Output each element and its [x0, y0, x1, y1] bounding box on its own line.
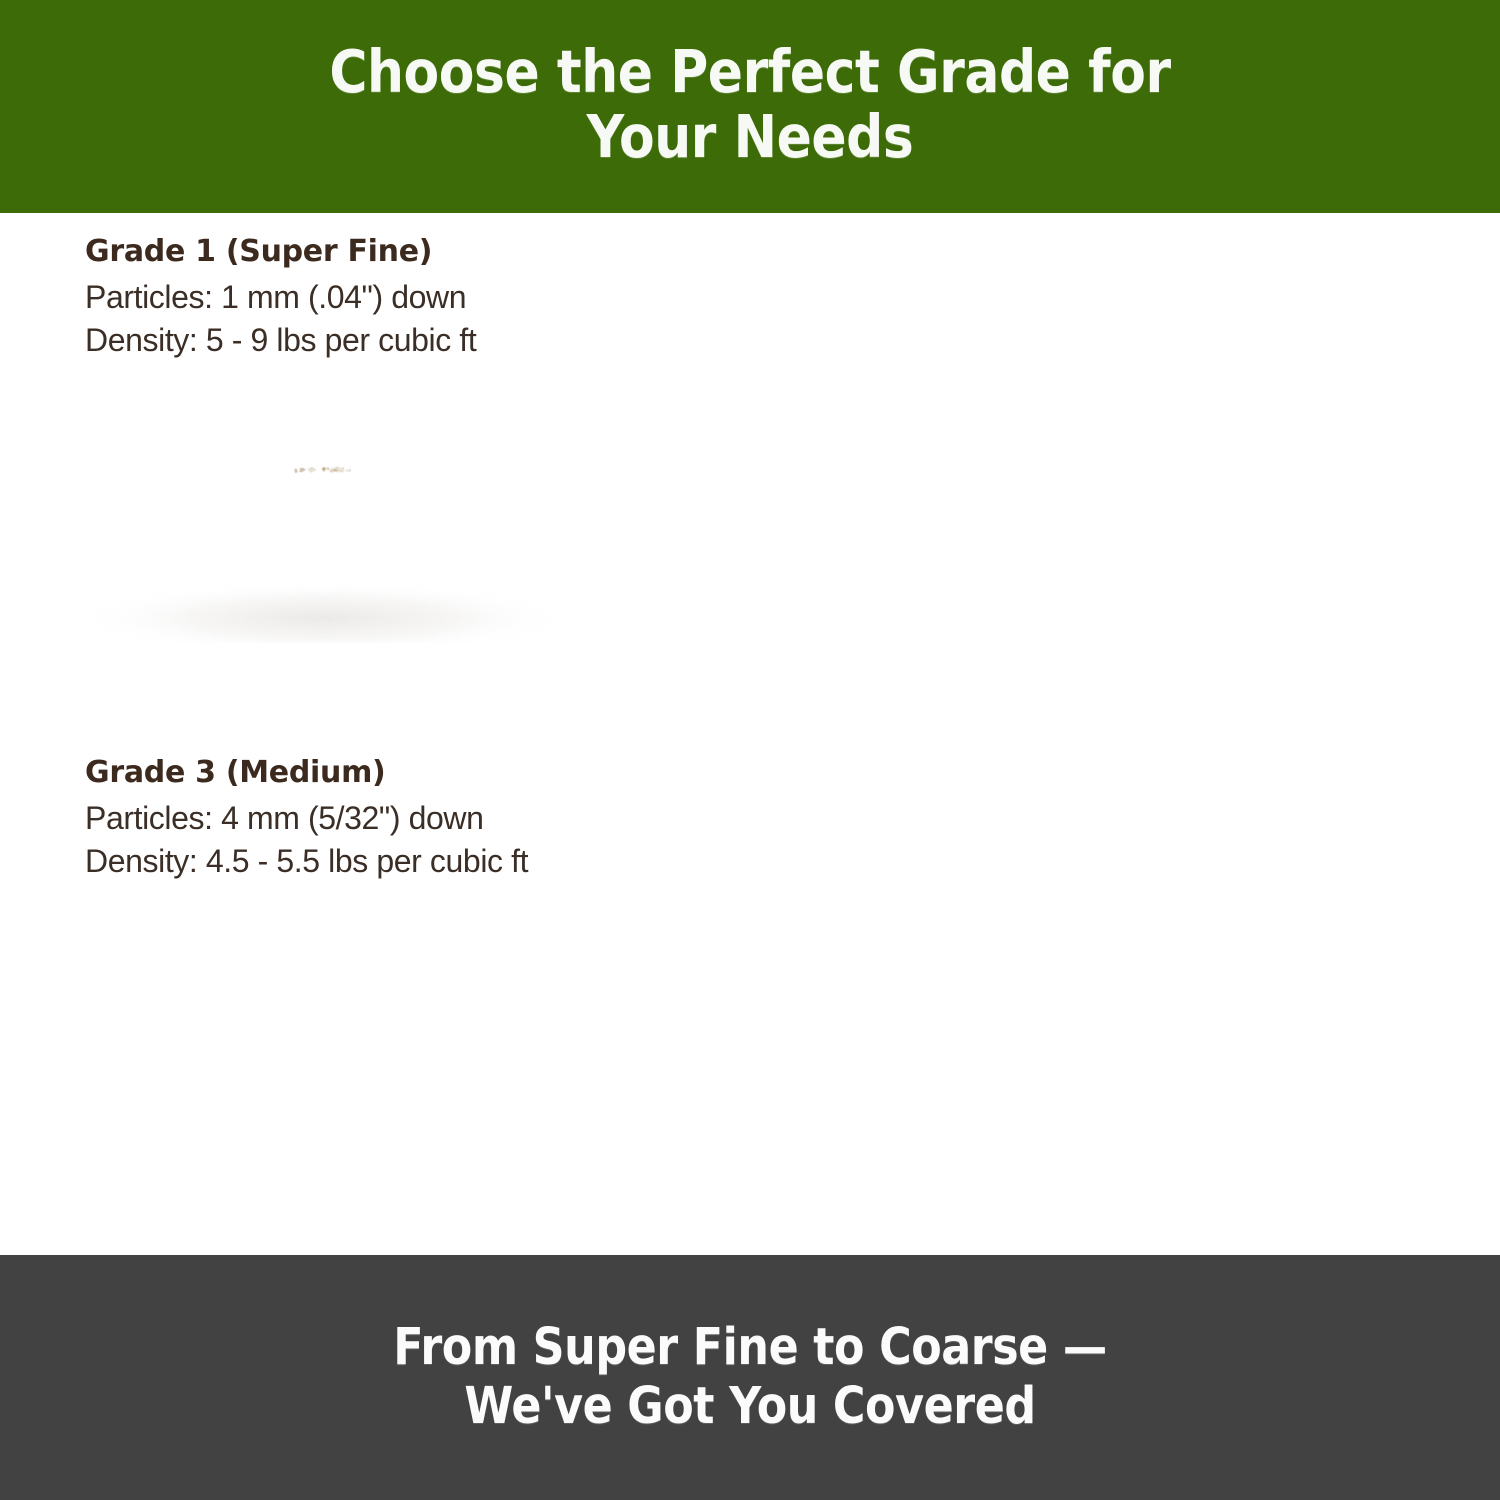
grade-3-pile-image	[58, 934, 583, 1234]
footer-banner: From Super Fine to Coarse — We've Got Yo…	[0, 1255, 1500, 1500]
infographic-page: Choose the Perfect Grade for Your Needs …	[0, 0, 1500, 1500]
page-title-line-1: Choose the Perfect Grade for	[329, 40, 1170, 105]
page-title-line-2: Your Needs	[329, 105, 1170, 170]
grade-1-text-block: Grade 1 (Super Fine) Particles: 1 mm (.0…	[85, 234, 725, 362]
page-title: Choose the Perfect Grade for Your Needs	[329, 40, 1170, 174]
header-banner: Choose the Perfect Grade for Your Needs	[0, 0, 1500, 213]
footer-tagline-line-2: We've Got You Covered	[393, 1378, 1106, 1437]
grade-card-3: Grade 3 (Medium) Particles: 4 mm (5/32")…	[0, 734, 750, 1255]
grade-3-text-block: Grade 3 (Medium) Particles: 4 mm (5/32")…	[85, 755, 725, 883]
grade-grid: Grade 1 (Super Fine) Particles: 1 mm (.0…	[0, 213, 1500, 1255]
grade-4-pile-image	[1450, 974, 1500, 1244]
grade-3-density: Density: 4.5 - 5.5 lbs per cubic ft	[85, 840, 725, 883]
grade-1-title: Grade 1 (Super Fine)	[85, 234, 725, 269]
grade-1-pile-image	[88, 393, 558, 643]
grade-3-title: Grade 3 (Medium)	[85, 755, 725, 790]
grade-card-2: Grade 2 (Fine) Particles: 2 mm (.08") do…	[750, 213, 1500, 734]
grade-1-density: Density: 5 - 9 lbs per cubic ft	[85, 319, 725, 362]
grade-card-1: Grade 1 (Super Fine) Particles: 1 mm (.0…	[0, 213, 750, 734]
grade-1-particles: Particles: 1 mm (.04") down	[85, 276, 725, 319]
footer-tagline-line-1: From Super Fine to Coarse —	[393, 1319, 1106, 1378]
grade-card-4: Grade 4 (Coarse) Particles: 8 mm (5/16")…	[750, 734, 1500, 1255]
grade-3-particles: Particles: 4 mm (5/32") down	[85, 797, 725, 840]
footer-tagline: From Super Fine to Coarse — We've Got Yo…	[393, 1319, 1106, 1436]
